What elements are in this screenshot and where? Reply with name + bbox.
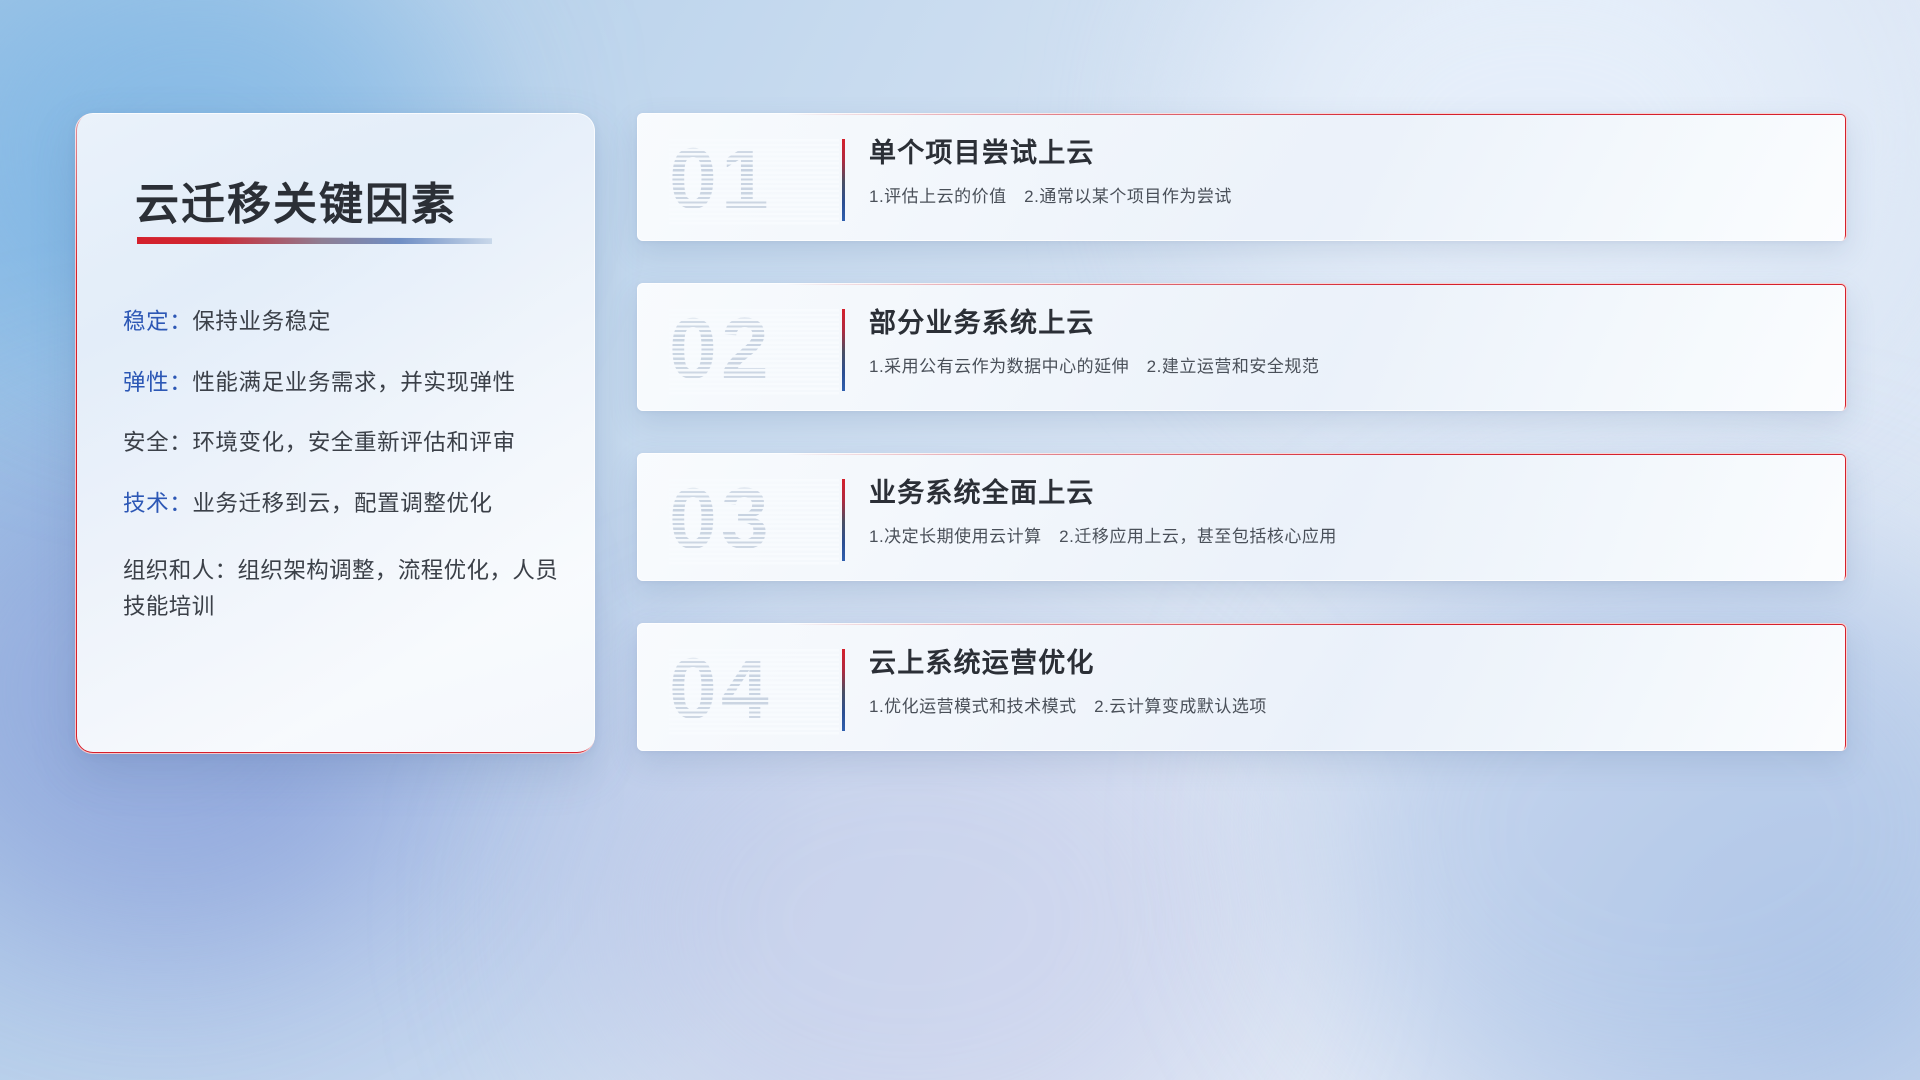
list-item-label: 弹性： (123, 370, 192, 395)
list-item-value: 性能满足业务需求，并实现弹性 (192, 370, 515, 395)
step-title: 部分业务系统上云 (869, 301, 1817, 340)
key-factors-panel: 云迁移关键因素 稳定：保持业务稳定 弹性：性能满足业务需求，并实现弹性 安全：环… (75, 113, 595, 754)
step-number-03: 03 (669, 477, 829, 561)
title-underline-accent (137, 237, 492, 244)
step-card-03[interactable]: 03 业务系统全面上云 1.决定长期使用云计算 2.迁移应用上云，甚至包括核心应… (637, 453, 1847, 581)
step-card-02[interactable]: 02 部分业务系统上云 1.采用公有云作为数据中心的延伸 2.建立运营和安全规范 (637, 283, 1847, 411)
step-description: 1.采用公有云作为数据中心的延伸 2.建立运营和安全规范 (869, 352, 1817, 377)
step-content: 业务系统全面上云 1.决定长期使用云计算 2.迁移应用上云，甚至包括核心应用 (869, 471, 1817, 547)
list-item: 弹性：性能满足业务需求，并实现弹性 (123, 372, 569, 395)
step-card-01[interactable]: 01 单个项目尝试上云 1.评估上云的价值 2.通常以某个项目作为尝试 (637, 113, 1847, 241)
key-factors-list: 稳定：保持业务稳定 弹性：性能满足业务需求，并实现弹性 安全：环境变化，安全重新… (123, 311, 569, 626)
list-item-label: 技术： (123, 491, 192, 516)
step-description: 1.优化运营模式和技术模式 2.云计算变成默认选项 (869, 692, 1817, 717)
list-item-label: 安全： (123, 430, 192, 455)
step-number-02: 02 (669, 307, 829, 391)
step-description: 1.评估上云的价值 2.通常以某个项目作为尝试 (869, 182, 1817, 207)
migration-steps-list: 01 单个项目尝试上云 1.评估上云的价值 2.通常以某个项目作为尝试 02 部… (637, 113, 1847, 751)
step-number-stripe-overlay (669, 647, 839, 735)
step-content: 部分业务系统上云 1.采用公有云作为数据中心的延伸 2.建立运营和安全规范 (869, 301, 1817, 377)
step-number-stripe-overlay (669, 477, 839, 565)
list-item-value: 业务迁移到云，配置调整优化 (192, 491, 492, 516)
list-item-value: 环境变化，安全重新评估和评审 (192, 430, 515, 455)
step-content: 云上系统运营优化 1.优化运营模式和技术模式 2.云计算变成默认选项 (869, 641, 1817, 717)
page-title: 云迁移关键因素 (135, 168, 457, 232)
step-title: 云上系统运营优化 (869, 641, 1817, 680)
list-item-label: 组织和人： (123, 558, 238, 583)
slide-canvas: 云迁移关键因素 稳定：保持业务稳定 弹性：性能满足业务需求，并实现弹性 安全：环… (0, 0, 1920, 1080)
step-number-01: 01 (669, 137, 829, 221)
step-divider-bar (842, 649, 845, 731)
step-content: 单个项目尝试上云 1.评估上云的价值 2.通常以某个项目作为尝试 (869, 131, 1817, 207)
list-item-label: 稳定： (123, 309, 192, 334)
step-description: 1.决定长期使用云计算 2.迁移应用上云，甚至包括核心应用 (869, 522, 1817, 547)
step-divider-bar (842, 309, 845, 391)
list-item: 稳定：保持业务稳定 (123, 311, 569, 334)
list-item-value: 保持业务稳定 (192, 309, 331, 334)
step-title: 单个项目尝试上云 (869, 131, 1817, 170)
list-item: 技术：业务迁移到云，配置调整优化 (123, 493, 569, 516)
step-divider-bar (842, 139, 845, 221)
list-item: 安全：环境变化，安全重新评估和评审 (123, 432, 569, 455)
step-card-04[interactable]: 04 云上系统运营优化 1.优化运营模式和技术模式 2.云计算变成默认选项 (637, 623, 1847, 751)
step-title: 业务系统全面上云 (869, 471, 1817, 510)
list-item: 组织和人：组织架构调整，流程优化，人员技能培训 (123, 553, 569, 626)
step-number-stripe-overlay (669, 137, 839, 225)
step-number-stripe-overlay (669, 307, 839, 395)
step-number-04: 04 (669, 647, 829, 731)
step-divider-bar (842, 479, 845, 561)
